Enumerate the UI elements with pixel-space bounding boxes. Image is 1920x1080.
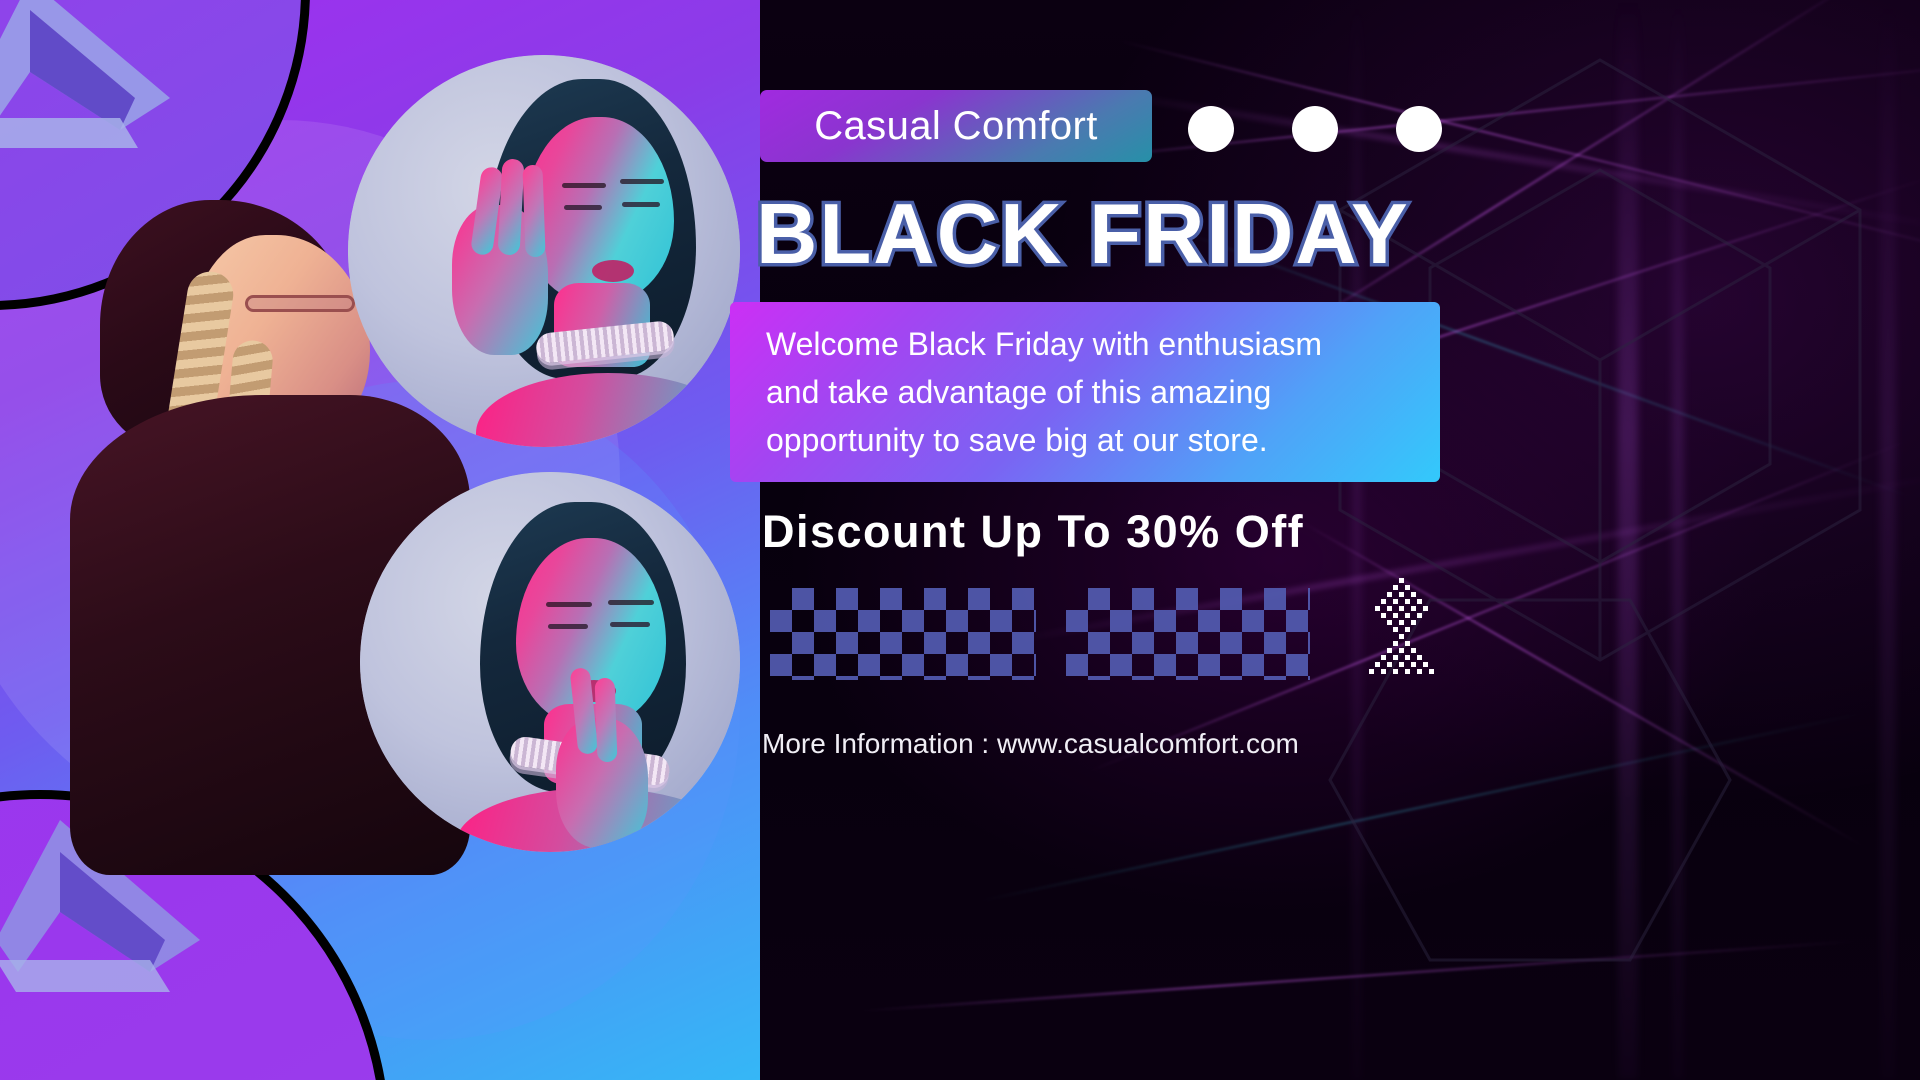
model-photo-circle-top bbox=[348, 55, 740, 447]
dot-indicator-1 bbox=[1188, 106, 1234, 152]
description-text: Welcome Black Friday with enthusiasm and… bbox=[766, 320, 1322, 464]
dot-indicator-3 bbox=[1396, 106, 1442, 152]
discount-headline: Discount Up To 30% Off bbox=[762, 506, 1304, 558]
checker-pattern-left bbox=[770, 588, 1036, 680]
description-box: Welcome Black Friday with enthusiasm and… bbox=[730, 302, 1440, 482]
page-title: BLACK FRIDAY bbox=[756, 186, 1410, 284]
model-photo-circle-bottom bbox=[360, 472, 740, 852]
black-friday-banner: Casual Comfort BLACK FRIDAY Welcome Blac… bbox=[0, 0, 1920, 1080]
diamond-dot-decoration bbox=[1366, 576, 1438, 688]
dot-indicators bbox=[1188, 106, 1442, 152]
checker-pattern-right bbox=[1066, 588, 1310, 680]
more-information-text[interactable]: More Information : www.casualcomfort.com bbox=[762, 728, 1299, 760]
wireframe-geometry-decoration bbox=[1300, 40, 1920, 1000]
left-decorative-panel bbox=[0, 0, 760, 1080]
penrose-triangle-top-icon bbox=[0, 0, 190, 190]
brand-badge[interactable]: Casual Comfort bbox=[760, 90, 1152, 162]
dot-indicator-2 bbox=[1292, 106, 1338, 152]
